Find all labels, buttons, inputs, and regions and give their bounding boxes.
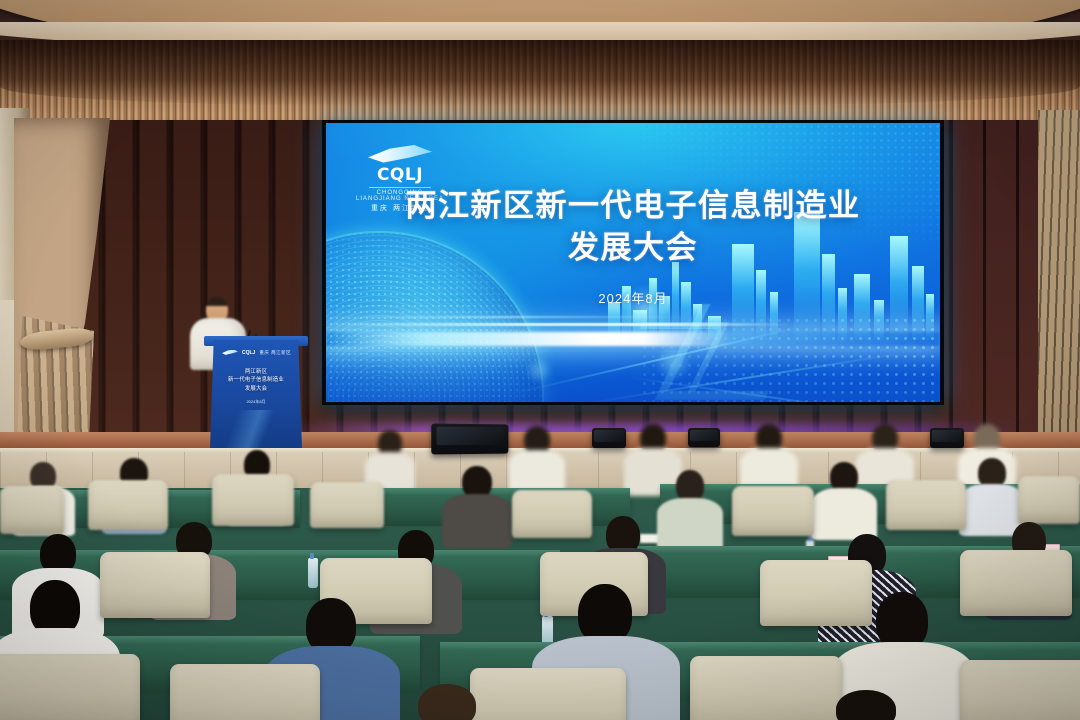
audience-desk-top: [0, 550, 560, 557]
valance-shadow: [0, 40, 1080, 106]
conference-hall-scene: CQLJ CHONGQING LIANGJIANG NEW AREA 重庆 两江…: [0, 0, 1080, 720]
stage-monitor: [431, 424, 508, 455]
podium-date: 2024年8月: [214, 399, 298, 405]
podium-logo-chinese: 重庆 两江新区: [259, 350, 291, 356]
podium-title-line-1: 两江新区: [214, 368, 298, 376]
stage-monitor: [592, 428, 626, 448]
podium-logo-mark: CQLJ: [242, 350, 255, 356]
audience-chair: [732, 486, 814, 536]
screen-title-line-1: 两江新区新一代电子信息制造业: [326, 185, 940, 227]
stage-monitor: [930, 428, 964, 448]
audience-chair: [88, 480, 168, 530]
audience-chair: [212, 474, 294, 526]
light-streak-thin: [326, 323, 793, 326]
audience-chair: [100, 552, 210, 618]
audience-chair: [310, 482, 384, 528]
swoosh-wave-icon: [368, 145, 432, 165]
audience-chair: [1018, 476, 1080, 524]
podium-title-line-3: 发展大会: [214, 385, 298, 393]
audience-chair: [470, 668, 626, 720]
side-curtain-right: [1038, 110, 1080, 450]
audience-chair: [760, 560, 872, 626]
podium-title-line-2: 新一代电子信息制造业: [214, 376, 298, 384]
audience-chair: [690, 656, 842, 720]
light-streak-thin-2: [326, 316, 694, 318]
podium-sheen: [214, 410, 298, 448]
screen-title-line-2: 发展大会: [326, 227, 940, 269]
audience-chair: [170, 664, 320, 720]
led-screen-content: CQLJ CHONGQING LIANGJIANG NEW AREA 重庆 两江…: [326, 123, 940, 402]
stage-monitor: [688, 428, 720, 447]
led-screen: CQLJ CHONGQING LIANGJIANG NEW AREA 重庆 两江…: [322, 120, 944, 405]
audience-chair: [960, 550, 1072, 616]
podium-title: 两江新区 新一代电子信息制造业 发展大会: [214, 368, 298, 393]
audience-chair: [886, 480, 966, 530]
water-bottle: [308, 558, 318, 588]
light-streak-main: [326, 332, 940, 346]
audience-chair: [512, 490, 592, 538]
screen-title: 两江新区新一代电子信息制造业 发展大会: [326, 185, 940, 268]
logo-mark: CQLJ: [356, 167, 444, 185]
swoosh-wave-icon: [222, 350, 238, 356]
screen-date: 2024年8月: [326, 288, 940, 307]
audience-chair: [960, 660, 1080, 720]
audience-chair: [0, 486, 64, 534]
screen-bottom-band: [326, 352, 940, 402]
podium-logo: CQLJ 重庆 两江新区: [222, 347, 292, 358]
audience-chair: [0, 654, 140, 720]
audience-desk-top: [440, 642, 1080, 650]
